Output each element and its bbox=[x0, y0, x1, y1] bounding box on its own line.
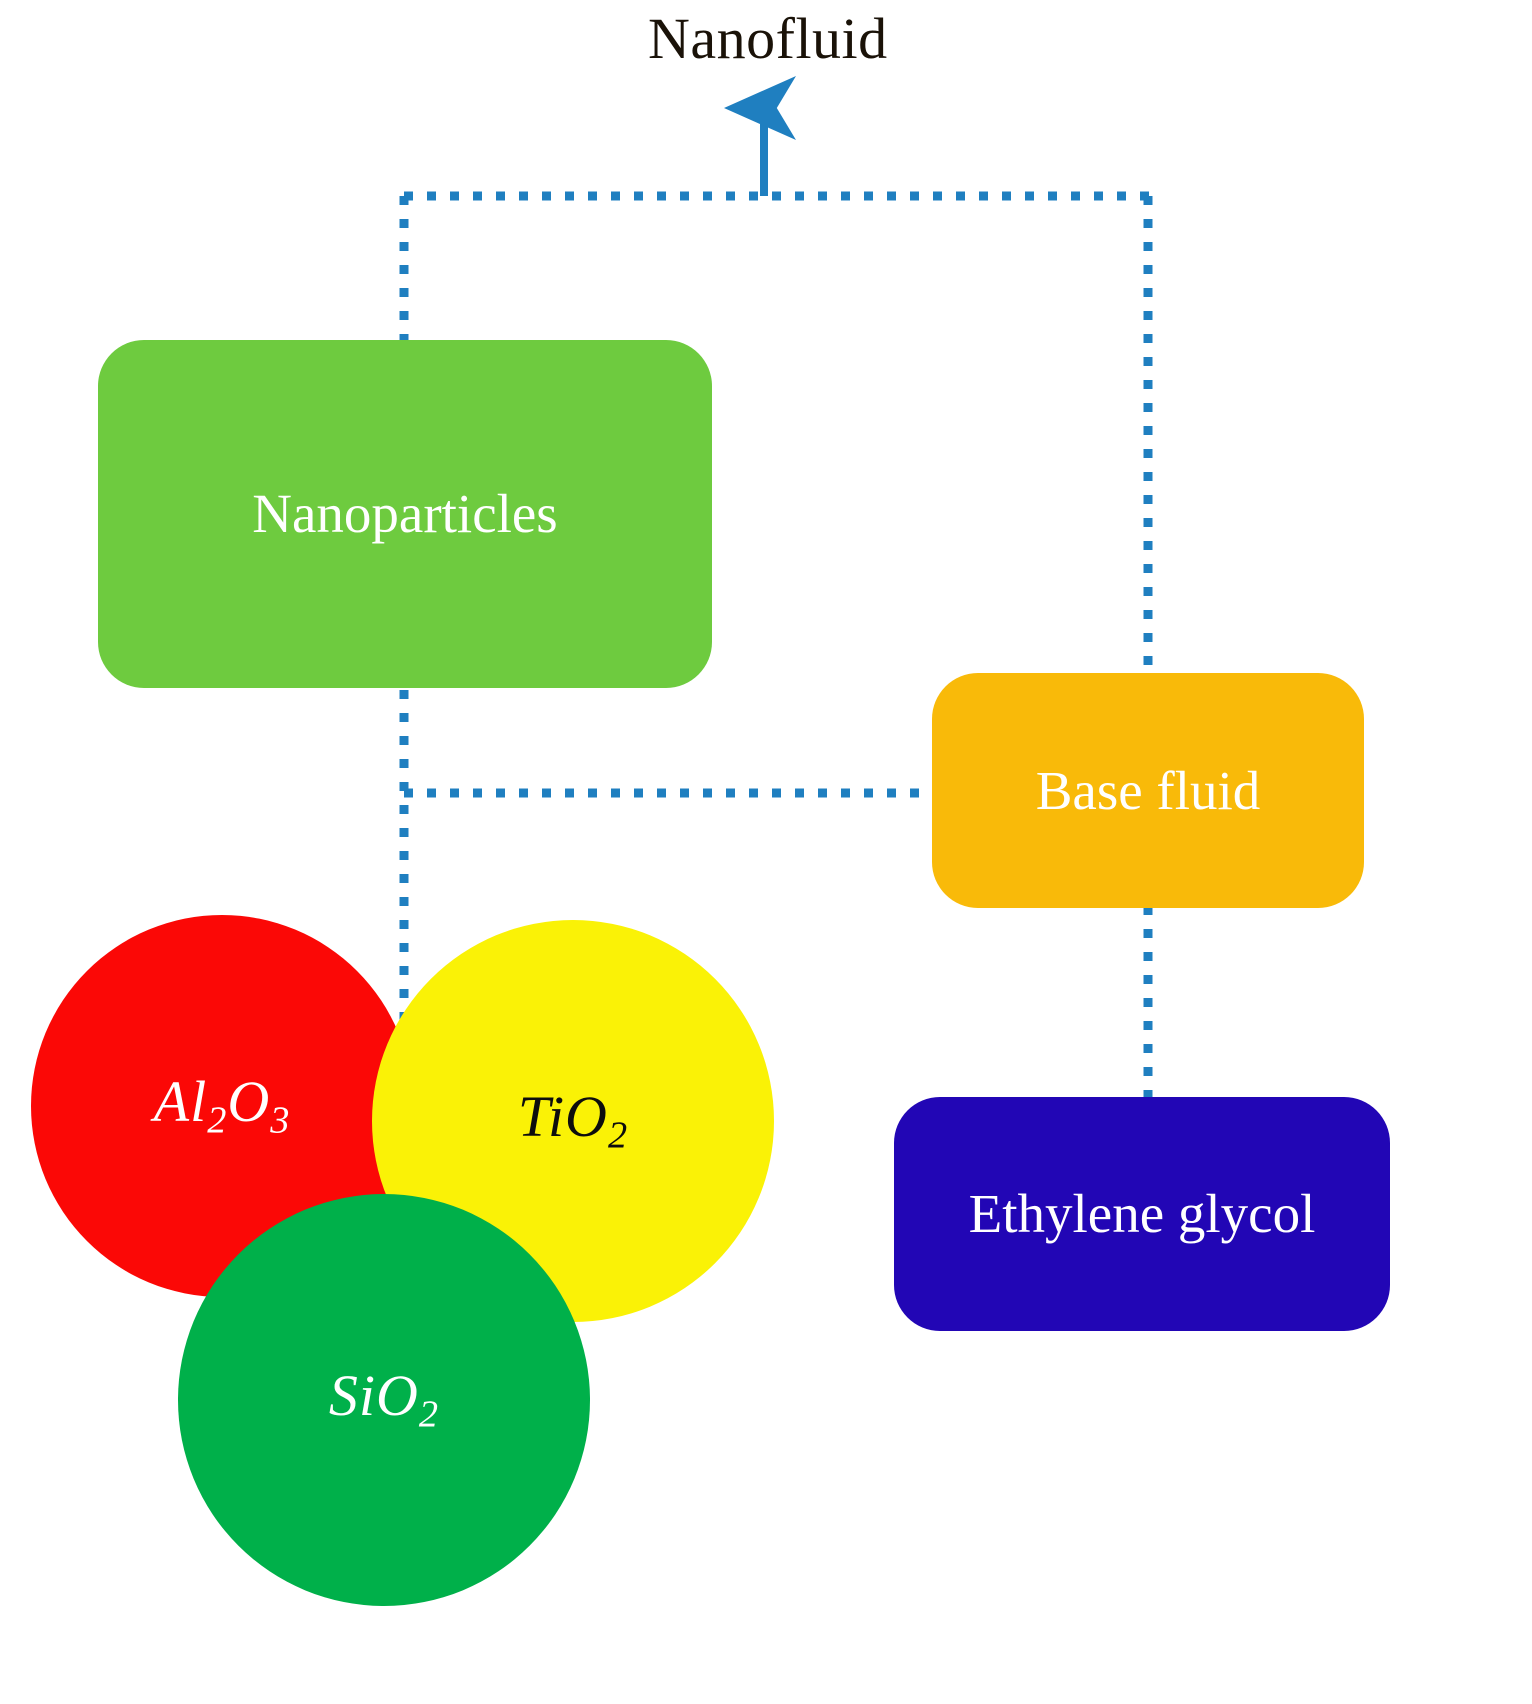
node-sio2[interactable]: SiO2 bbox=[178, 1194, 590, 1606]
node-base-fluid[interactable]: Base fluid bbox=[932, 673, 1364, 908]
node-ethylene-glycol-label: Ethylene glycol bbox=[969, 1185, 1316, 1243]
node-nanoparticles[interactable]: Nanoparticles bbox=[98, 340, 712, 688]
node-al2o3-label: Al2O3 bbox=[154, 1072, 291, 1141]
tio2-subscript-2: 2 bbox=[608, 1114, 628, 1156]
node-base-fluid-label: Base fluid bbox=[1036, 762, 1261, 820]
tio2-element-tio: TiO bbox=[518, 1084, 608, 1149]
al2o3-subscript-2: 2 bbox=[207, 1099, 227, 1141]
sio2-subscript-2: 2 bbox=[419, 1393, 439, 1435]
node-sio2-label: SiO2 bbox=[329, 1366, 439, 1435]
node-ethylene-glycol[interactable]: Ethylene glycol bbox=[894, 1097, 1390, 1331]
nanofluid-title: Nanofluid bbox=[648, 5, 888, 72]
diagram-canvas: Nanofluid Nanoparticles Base fluid Ethyl… bbox=[0, 0, 1532, 1704]
al2o3-subscript-3: 3 bbox=[270, 1099, 290, 1141]
node-tio2-label: TiO2 bbox=[518, 1087, 628, 1156]
sio2-element-sio: SiO bbox=[329, 1363, 419, 1428]
node-nanoparticles-label: Nanoparticles bbox=[252, 485, 557, 543]
al2o3-element-al: Al bbox=[154, 1069, 208, 1134]
al2o3-element-o: O bbox=[227, 1069, 270, 1134]
